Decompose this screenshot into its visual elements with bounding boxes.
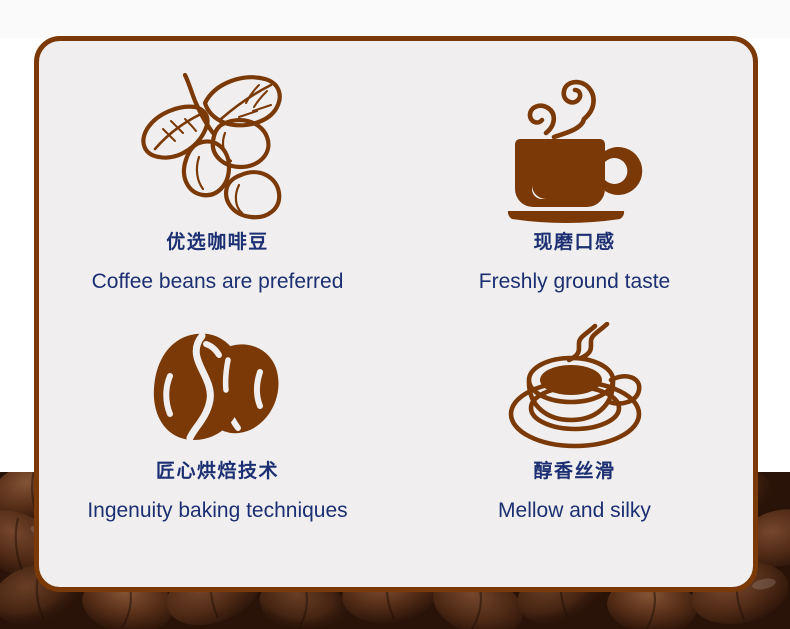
coffee-mug-steam-icon: [500, 67, 650, 225]
features-grid: 优选咖啡豆 Coffee beans are preferred: [39, 41, 753, 587]
feature-label-en: Freshly ground taste: [479, 269, 670, 294]
feature-item-ingenuity-baking[interactable]: 匠心烘焙技术 Ingenuity baking techniques: [39, 314, 396, 587]
page-top-band: [0, 0, 790, 38]
feature-label-en: Ingenuity baking techniques: [87, 498, 347, 523]
feature-item-coffee-beans-preferred[interactable]: 优选咖啡豆 Coffee beans are preferred: [39, 41, 396, 314]
coffee-beans-pair-icon: [148, 322, 288, 454]
feature-label-cn: 醇香丝滑: [533, 460, 615, 484]
coffee-cup-saucer-steam-icon: [495, 322, 655, 454]
feature-label-cn: 匠心烘焙技术: [156, 460, 279, 484]
feature-label-cn: 现磨口感: [533, 231, 615, 255]
coffee-branch-berries-icon: [133, 67, 303, 225]
feature-label-en: Coffee beans are preferred: [92, 269, 344, 294]
feature-label-en: Mellow and silky: [498, 498, 651, 523]
feature-item-mellow-silky[interactable]: 醇香丝滑 Mellow and silky: [396, 314, 753, 587]
features-card: 优选咖啡豆 Coffee beans are preferred: [34, 36, 758, 592]
promo-page: 优选咖啡豆 Coffee beans are preferred: [0, 0, 790, 629]
feature-label-cn: 优选咖啡豆: [166, 231, 269, 255]
feature-item-freshly-ground-taste[interactable]: 现磨口感 Freshly ground taste: [396, 41, 753, 314]
